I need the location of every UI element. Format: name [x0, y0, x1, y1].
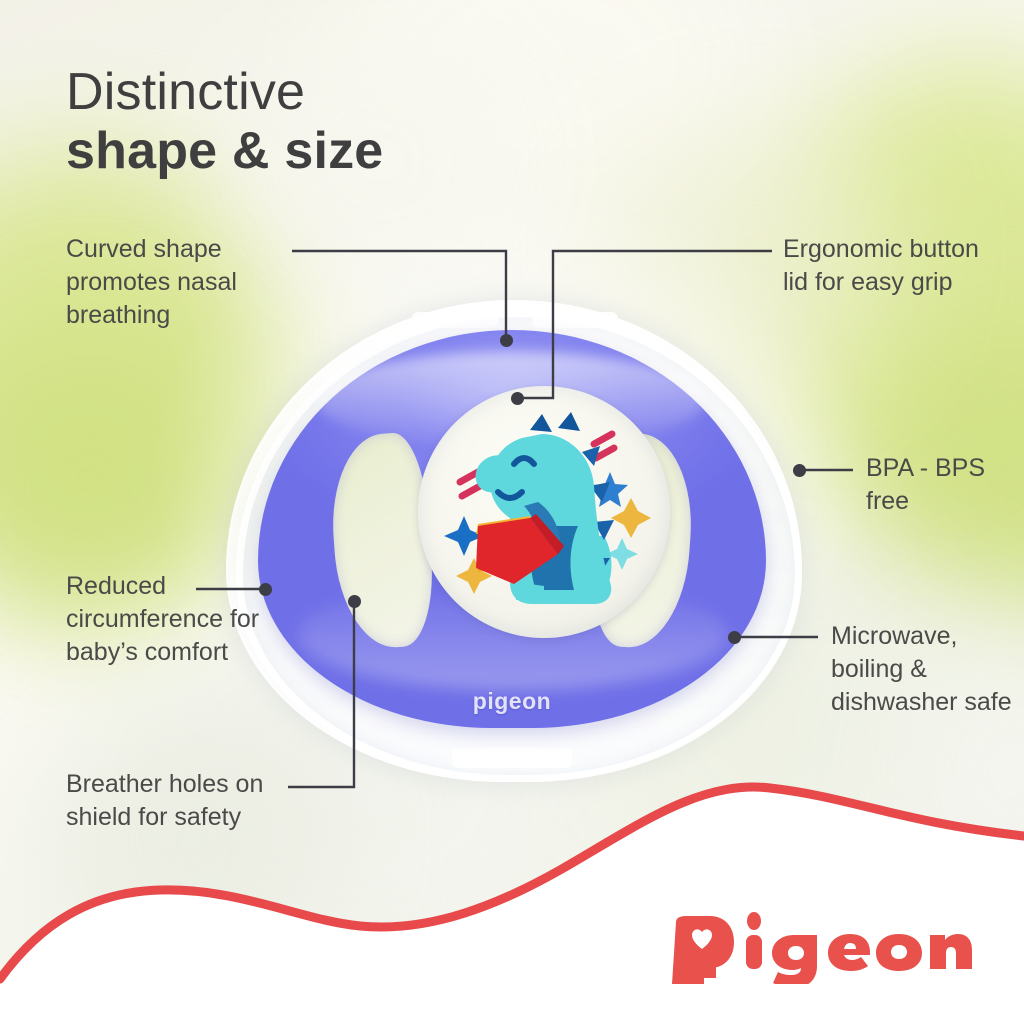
callout-label-ergonomic-button-lid: Ergonomic button lid for easy grip: [783, 233, 998, 299]
callout-dot-breather-holes: [348, 595, 361, 608]
callout-dot-ergonomic: [511, 392, 524, 405]
callout-dot-curved-shape: [500, 334, 513, 347]
bottom-wave-divider: [0, 774, 1024, 1024]
leader-line-ergonomic: [523, 251, 772, 398]
infographic-canvas: Distinctive shape & size: [0, 0, 1024, 1024]
leader-line-breather-holes: [288, 605, 354, 787]
callout-dot-microwave: [728, 631, 741, 644]
callout-label-reduced-circumference: Reduced circumference for baby’s comfort: [66, 570, 296, 669]
pigeon-logo: [672, 904, 972, 984]
callout-label-microwave-safe: Microwave, boiling & dishwasher safe: [831, 620, 1024, 719]
leader-line-curved-shape: [292, 251, 506, 336]
callout-dot-bpa: [793, 464, 806, 477]
callout-label-bpa-bps-free: BPA - BPS free: [866, 452, 1024, 518]
callout-label-curved-shape: Curved shape promotes nasal breathing: [66, 233, 311, 332]
